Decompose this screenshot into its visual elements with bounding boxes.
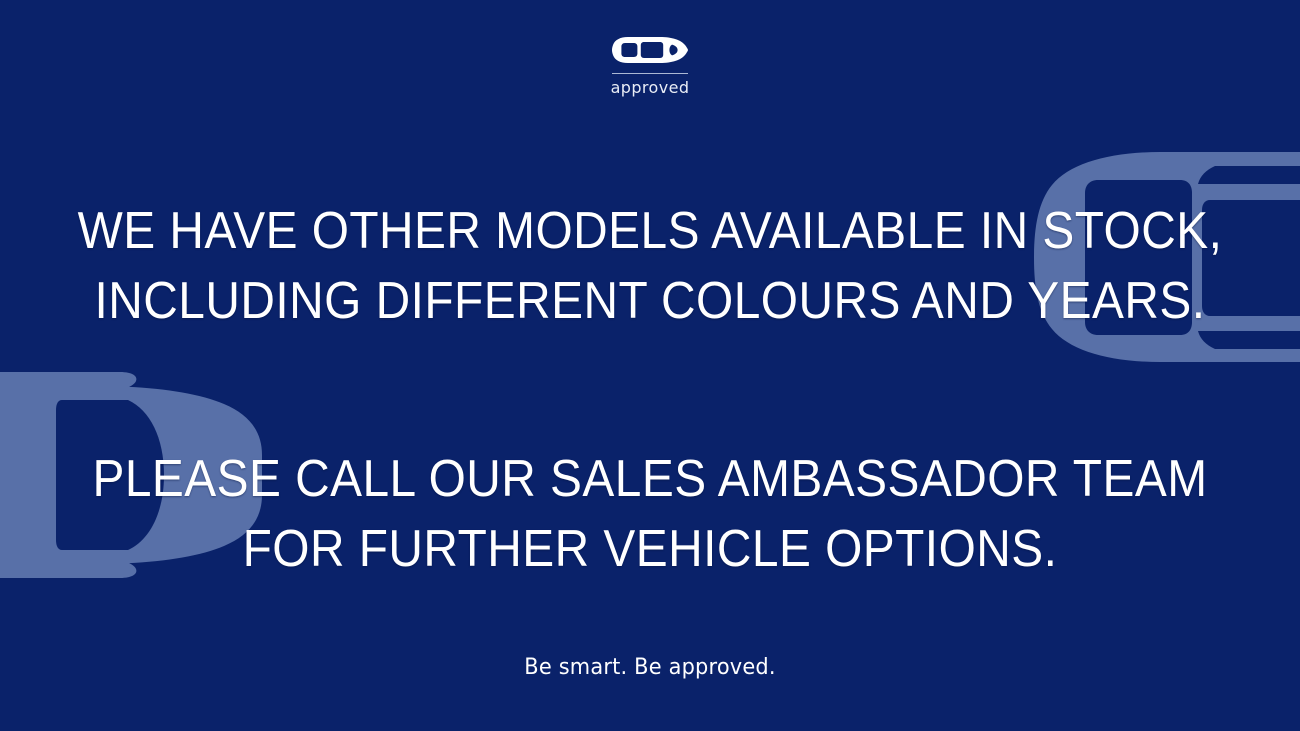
message-paragraph-1: WE HAVE OTHER MODELS AVAILABLE IN STOCK,… <box>52 196 1248 336</box>
logo-divider <box>612 73 688 74</box>
message-paragraph-2: PLEASE CALL OUR SALES AMBASSADOR TEAM FO… <box>52 444 1248 584</box>
logo-wordmark: approved <box>611 80 690 96</box>
brand-tagline: Be smart. Be approved. <box>33 655 1268 681</box>
message-block: WE HAVE OTHER MODELS AVAILABLE IN STOCK,… <box>0 196 1300 584</box>
brand-logo: approved <box>0 34 1300 96</box>
promotional-banner: approved WE HAVE OTHER MODELS AVAILABLE … <box>0 0 1300 731</box>
car-top-view-icon <box>612 34 688 66</box>
